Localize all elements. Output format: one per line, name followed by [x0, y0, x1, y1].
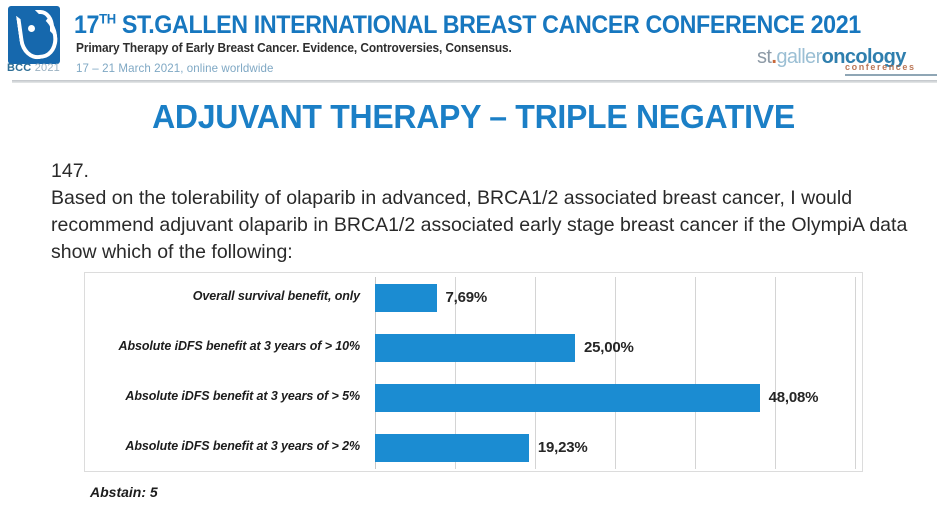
conference-subtitle: Primary Therapy of Early Breast Cancer. … [76, 41, 512, 55]
conference-name-rest: ST.GALLEN INTERNATIONAL BREAST CANCER CO… [116, 11, 861, 39]
sponsor-logo-st: st [757, 46, 771, 68]
chart-bar-value-label: 7,69% [446, 289, 488, 306]
poll-results-bar-chart: Overall survival benefit, only7,69%Absol… [84, 272, 863, 472]
chart-bar-row: Overall survival benefit, only7,69% [375, 273, 856, 323]
chart-category-label: Absolute iDFS benefit at 3 years of > 10… [119, 339, 360, 353]
conference-dates: 17 – 21 March 2021, online worldwide [76, 61, 274, 75]
abstain-count: Abstain: 5 [90, 484, 158, 500]
sponsor-logo-conferences: conferences [845, 62, 916, 72]
conference-name: 17TH ST.GALLEN INTERNATIONAL BREAST CANC… [74, 11, 861, 40]
logo-badge-year: 2021 [35, 62, 60, 74]
page-title: ADJUVANT THERAPY – TRIPLE NEGATIVE [14, 98, 933, 136]
question-block: 147. Based on the tolerability of olapar… [51, 158, 931, 266]
logo-swirl-tail-icon [35, 10, 54, 35]
conference-name-ordinal-suffix: TH [99, 11, 116, 27]
chart-bar-row: Absolute iDFS benefit at 3 years of > 2%… [375, 423, 856, 473]
chart-plot-area: Overall survival benefit, only7,69%Absol… [375, 273, 856, 473]
chart-category-label: Absolute iDFS benefit at 3 years of > 5% [125, 389, 360, 403]
logo-badge-text: BCC 2021 [7, 62, 65, 74]
chart-category-label: Absolute iDFS benefit at 3 years of > 2% [125, 439, 360, 453]
logo-badge-bcc: BCC [7, 62, 31, 74]
chart-bar [375, 284, 437, 312]
st-gallen-oncology-conferences-logo-icon: st.galleroncology conferences [757, 46, 937, 76]
chart-bar [375, 334, 575, 362]
question-number: 147. [51, 158, 931, 185]
chart-bar-row: Absolute iDFS benefit at 3 years of > 5%… [375, 373, 856, 423]
chart-bar-row: Absolute iDFS benefit at 3 years of > 10… [375, 323, 856, 373]
logo-dot-icon [28, 25, 35, 32]
conference-name-ordinal: 17 [74, 11, 99, 39]
sponsor-logo-underline [845, 74, 937, 76]
chart-bar-value-label: 48,08% [769, 389, 819, 406]
chart-bar-value-label: 25,00% [584, 339, 634, 356]
header-divider [12, 80, 937, 83]
breast-cancer-conference-logo-icon [8, 6, 60, 64]
chart-category-label: Overall survival benefit, only [193, 289, 360, 303]
chart-bar [375, 434, 529, 462]
chart-bar [375, 384, 760, 412]
conference-header: BCC 2021 17TH ST.GALLEN INTERNATIONAL BR… [0, 0, 947, 84]
question-text: Based on the tolerability of olaparib in… [51, 185, 931, 266]
sponsor-logo-galler: galler [776, 46, 821, 68]
chart-bar-value-label: 19,23% [538, 439, 588, 456]
